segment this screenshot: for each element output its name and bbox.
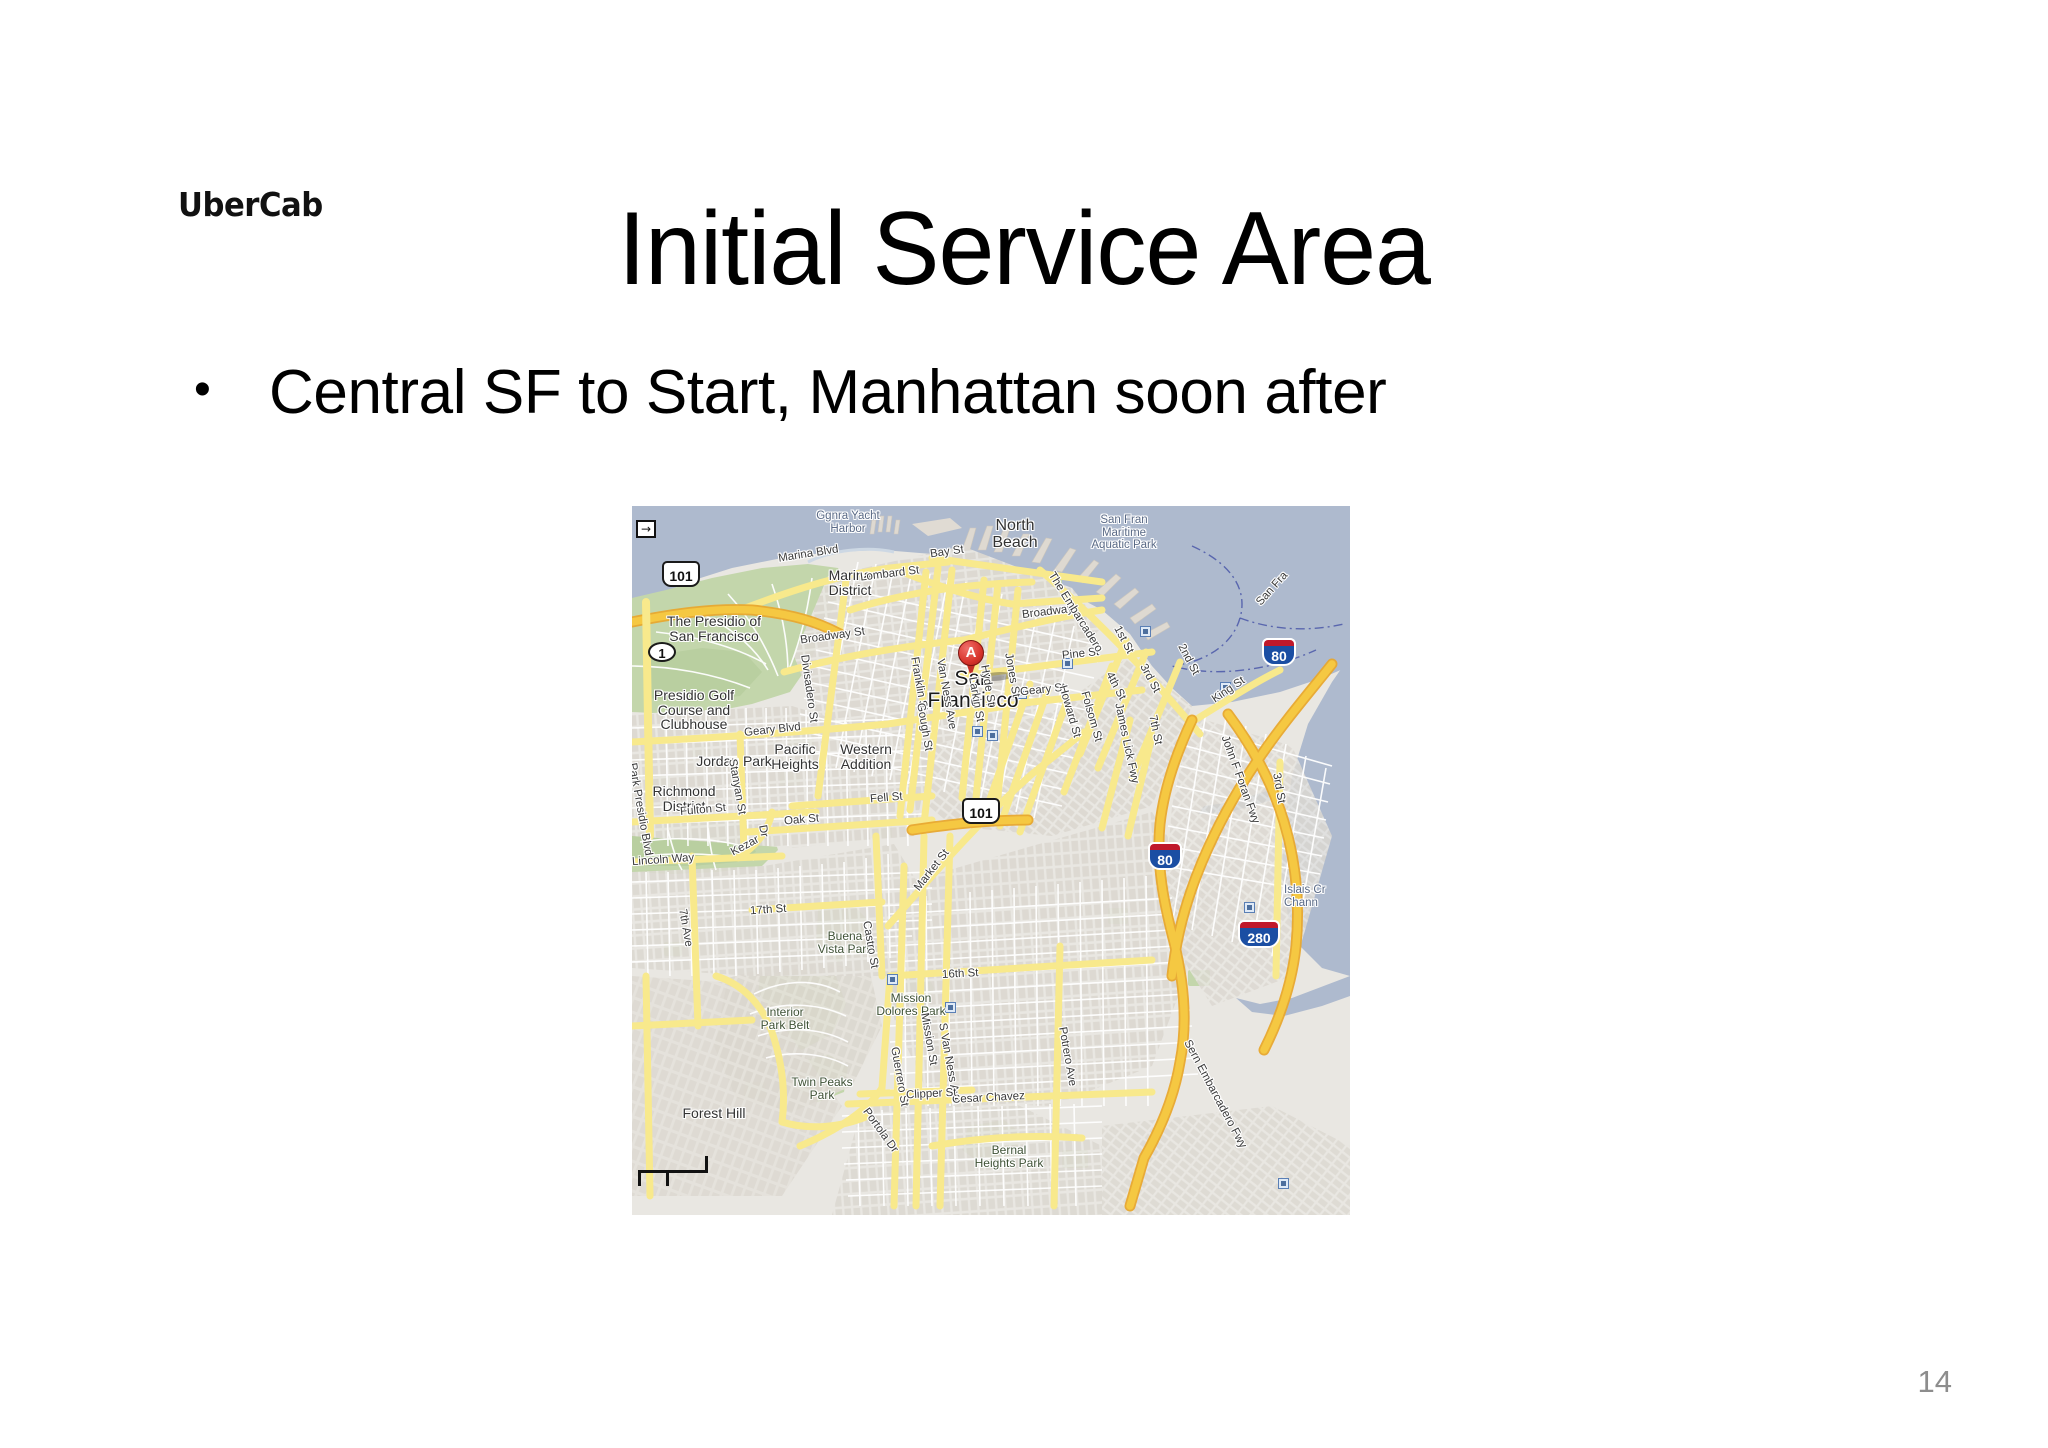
transit-station-icon [987,730,998,741]
transit-station-icon [1244,902,1255,913]
transit-station-icon [1220,682,1231,693]
bullet-point-icon: • [190,358,269,423]
bullet-list: • Central SF to Start, Manhattan soon af… [190,358,1690,427]
service-area-map: → 101 1 101 80 80 280 A San Francisco Th… [632,506,1350,1215]
transit-station-icon [1016,688,1027,699]
slide-canvas: UberCab Initial Service Area • Central S… [0,0,2048,1448]
list-item: • Central SF to Start, Manhattan soon af… [190,358,1690,427]
map-base-graphic [632,506,1350,1215]
transit-station-icon [1140,626,1151,637]
transit-station-icon [1278,1178,1289,1189]
transit-station-icon [972,726,983,737]
map-pan-right-control[interactable]: → [636,520,656,538]
slide-page-number: 14 [1918,1364,1952,1400]
bullet-item-text: Central SF to Start, Manhattan soon afte… [269,358,1690,427]
page-title: Initial Service Area [36,195,2012,304]
transit-station-icon [945,1002,956,1013]
transit-station-icon [887,974,898,985]
transit-station-icon [1062,658,1073,669]
